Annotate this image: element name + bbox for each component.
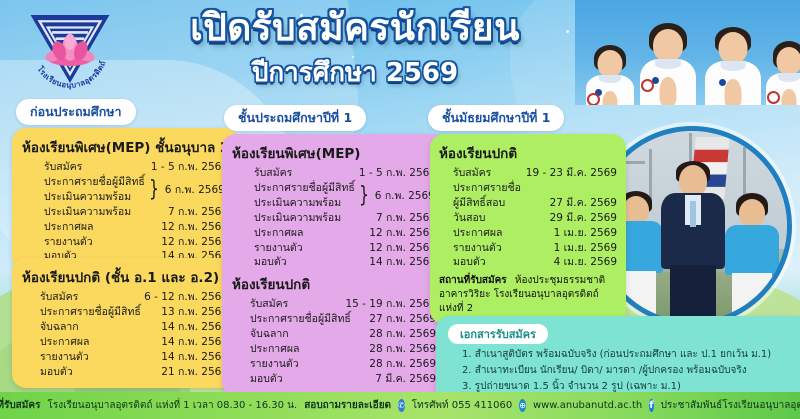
students-group-photo [575,0,800,105]
schedule-row: รับสมัคร 6 - 12 ก.พ. 2569 [22,290,228,305]
facebook-icon[interactable]: f [649,399,653,412]
curly-brace-icon: } [359,185,369,207]
row-label: ประกาศผล [250,342,299,357]
row-value: 21 ก.พ. 2569 [161,365,228,380]
row-value: 19 - 23 มี.ค. 2569 [526,166,617,181]
row-value: 27 มี.ค. 2569 [550,196,617,211]
schedule-row: รับสมัคร 1 - 5 ก.พ. 2569 [232,166,436,181]
footer-contact-label: สอบถามรายละเอียด [304,398,391,413]
student-photo-figure [763,41,800,105]
note-line-two: อาคารวิริยะ โรงเรียนอนุบาลอุตรดิตถ์ แห่ง… [439,288,617,316]
schedule-row: รายงานตัว 28 ก.พ. 2569 [232,357,436,372]
schedule-row: วันสอบ 29 มี.ค. 2569 [439,211,617,226]
row-label: รายงานตัว [453,241,502,256]
student-photo-figure [637,23,699,105]
application-venue-note: สถานที่รับสมัคร ห้องประชุมธรรมชาติ อาคาร… [439,274,617,316]
note-label: สถานที่รับสมัคร [439,275,507,286]
card-primary: ห้องเรียนพิเศษ(MEP) รับสมัคร 1 - 5 ก.พ. … [222,134,446,396]
schedule-row: รับสมัคร 19 - 23 มี.ค. 2569 [439,166,617,181]
row-label: มอบตัว [254,255,287,270]
schedule-row: ประกาศรายชื่อผู้มีสิทธิ์ 13 ก.พ. 2569 [22,305,228,320]
row-label: ประกาศผล [254,226,303,241]
schedule-row: รายงานตัว 14 ก.พ. 2569 [22,350,228,365]
row-label: ประกาศผล [40,335,89,350]
row-label: รายงานตัว [254,241,303,256]
documents-title: เอกสารรับสมัคร [448,324,548,344]
schedule-row: ประกาศผล 12 ก.พ. 2569 [22,220,228,235]
section-label-secondary: ชั้นมัธยมศึกษาปีที่ 1 [428,105,564,131]
row-label: ประเมินความพร้อม [44,190,145,205]
row-label: มอบตัว [453,255,486,270]
row-label: วันสอบ [453,211,485,226]
row-value: 7 ก.พ. 2569 [168,205,228,220]
schedule-row: จับฉลาก 14 ก.พ. 2569 [22,320,228,335]
row-value: 1 - 5 ก.พ. 2569 [359,166,436,181]
row-label: ผู้มีสิทธิ์สอบ [453,196,505,211]
schedule-row: รายงานตัว 12 ก.พ. 2569 [22,235,228,250]
row-value: 1 เม.ย. 2569 [554,241,617,256]
row-value: 12 ก.พ. 2569 [369,241,436,256]
row-value: 6 ก.พ. 2569 [165,181,225,198]
schedule-row: ประกาศผล 14 ก.พ. 2569 [22,335,228,350]
poster-root: โรงเรียนอนุบาลอุตรดิตถ์ เปิดรับสมัครนักเ… [0,0,800,419]
schedule-row: ประกาศรายชื่อ [439,181,617,196]
row-value: 14 ก.พ. 2569 [369,255,436,270]
card-title: ห้องเรียนพิเศษ(MEP) ชั้นอนุบาล 2 [22,136,228,158]
row-value: 6 - 12 ก.พ. 2569 [144,290,228,305]
row-value: 1 - 5 ก.พ. 2569 [151,160,228,175]
schedule-row: ประเมินความพร้อม 7 ก.พ. 2569 [232,211,436,226]
row-value: 29 มี.ค. 2569 [550,211,617,226]
row-value: 14 ก.พ. 2569 [161,335,228,350]
card-kindergarten-mep: ห้องเรียนพิเศษ(MEP) ชั้นอนุบาล 2 รับสมัค… [12,128,238,272]
schedule-row: รายงานตัว 1 เม.ย. 2569 [439,241,617,256]
card-kindergarten-normal: ห้องเรียนปกติ (ชั้น อ.1 และ อ.2) รับสมัค… [12,258,238,388]
row-label: มอบตัว [40,365,73,380]
note-value: ห้องประชุมธรรมชาติ [515,275,605,286]
schedule-row: มอบตัว 4 เม.ย. 2569 [439,255,617,270]
schedule-row: มอบตัว 21 ก.พ. 2569 [22,365,228,380]
row-value: 4 เม.ย. 2569 [554,255,617,270]
schedule-row: ประกาศรายชื่อผู้มีสิทธิ์ 27 ก.พ. 2569 [232,312,436,327]
row-label: จับฉลาก [40,320,79,335]
footer-bar: สถานที่รับสมัคร โรงเรียนอนุบาลอุตรดิตถ์ … [0,392,800,419]
row-value: 7 มี.ค. 2569 [375,372,436,387]
card-title: ห้องเรียนพิเศษ(MEP) [232,142,436,164]
schedule-row: มอบตัว 14 ก.พ. 2569 [232,255,436,270]
schedule-row-brace: ประกาศรายชื่อผู้มีสิทธิ์ ประเมินความพร้อ… [232,181,436,211]
footer-phone: โทรศัพท์ 055 411060 [412,398,512,413]
schedule-rows: รับสมัคร 19 - 23 มี.ค. 2569 ประกาศรายชื่… [439,166,617,270]
row-value: 13 ก.พ. 2569 [161,305,228,320]
schedule-rows: รับสมัคร 1 - 5 ก.พ. 2569 ประกาศรายชื่อผู… [22,160,228,264]
footer-place-label: สถานที่รับสมัคร [0,398,40,413]
schedule-rows-normal: รับสมัคร 15 - 19 ก.พ. 2569 ประกาศรายชื่อ… [232,297,436,386]
row-label: รายงานตัว [250,357,299,372]
schedule-row-brace: ประกาศรายชื่อผู้มีสิทธิ์ ประเมินความพร้อ… [22,175,228,205]
row-label: จับฉลาก [250,327,289,342]
schedule-row: ประกาศผล 1 เม.ย. 2569 [439,226,617,241]
student-photo-figure [721,193,783,321]
row-label: ประกาศรายชื่อผู้มีสิทธิ์ [40,305,141,320]
row-label: รับสมัคร [40,290,78,305]
row-label: ประเมินความพร้อม [44,205,131,220]
student-photo-figure [583,45,637,105]
schedule-row: รายงานตัว 12 ก.พ. 2569 [232,241,436,256]
row-label: รับสมัคร [44,160,82,175]
row-value: 28 ก.พ. 2569 [369,327,436,342]
schedule-row: ผู้มีสิทธิ์สอบ 27 มี.ค. 2569 [439,196,617,211]
schedule-row: ประเมินความพร้อม 7 ก.พ. 2569 [22,205,228,220]
row-label: ประกาศรายชื่อผู้มีสิทธิ์ [250,312,351,327]
row-value: 7 ก.พ. 2569 [376,211,436,226]
page-subtitle: ปีการศึกษา 2569 [130,52,580,93]
row-label: ประกาศรายชื่อผู้มีสิทธิ์ [254,181,355,196]
card-secondary: ห้องเรียนปกติ รับสมัคร 19 - 23 มี.ค. 256… [430,134,626,324]
schedule-row: ประกาศผล 28 ก.พ. 2569 [232,342,436,357]
row-value: 12 ก.พ. 2569 [369,226,436,241]
row-label: รับสมัคร [453,166,491,181]
row-label: รายงานตัว [44,235,93,250]
section-label-preschool: ก่อนประถมศึกษา [16,99,136,125]
row-label: มอบตัว [250,372,283,387]
schedule-row: มอบตัว 7 มี.ค. 2569 [232,372,436,387]
row-label: ประกาศผล [453,226,502,241]
page-title: เปิดรับสมัครนักเรียน [130,8,580,48]
schedule-rows-mep: รับสมัคร 1 - 5 ก.พ. 2569 ประกาศรายชื่อผู… [232,166,436,270]
row-label: ประกาศรายชื่อ [453,181,521,196]
row-value: 6 ก.พ. 2569 [375,187,435,204]
row-value: 14 ก.พ. 2569 [161,320,228,335]
row-value: 28 ก.พ. 2569 [369,357,436,372]
row-label: รายงานตัว [40,350,89,365]
globe-icon: ⊕ [519,399,526,412]
card-title: ห้องเรียนปกติ [439,142,617,164]
schedule-row: จับฉลาก 28 ก.พ. 2569 [232,327,436,342]
row-value: 14 ก.พ. 2569 [161,350,228,365]
row-label: ประเมินความพร้อม [254,211,341,226]
row-value: 12 ก.พ. 2569 [161,220,228,235]
footer-facebook[interactable]: ประชาสัมพันธ์โรงเรียนอนุบาลอุตรดิตถ์ [661,398,800,413]
student-photo-figure [703,27,763,105]
footer-website[interactable]: www.anubanutd.ac.th [533,400,642,411]
row-label: ประกาศผล [44,220,93,235]
list-item: 1. สำเนาสูติบัตร พร้อมฉบับจริง (ก่อนประถ… [448,347,800,363]
card-title: ห้องเรียนปกติ (ชั้น อ.1 และ อ.2) [22,266,228,288]
phone-icon: ✆ [398,399,405,412]
row-label: ประเมินความพร้อม [254,196,355,211]
list-item: 2. สำเนาทะเบียน นักเรียน/ บิดา/ มารดา /ผ… [448,363,800,379]
row-label: รับสมัคร [250,297,288,312]
row-value: 1 เม.ย. 2569 [554,226,617,241]
row-label: รับสมัคร [254,166,292,181]
schedule-row: ประกาศผล 12 ก.พ. 2569 [232,226,436,241]
footer-place-value: โรงเรียนอนุบาลอุตรดิตถ์ แห่งที่ 1 เวลา 0… [47,398,297,413]
schedule-rows: รับสมัคร 6 - 12 ก.พ. 2569 ประกาศรายชื่อผ… [22,290,228,379]
card-subtitle: ห้องเรียนปกติ [232,273,436,295]
row-value: 27 ก.พ. 2569 [369,312,436,327]
poster-title-block: เปิดรับสมัครนักเรียน ปีการศึกษา 2569 [130,8,580,93]
school-logo-icon: โรงเรียนอนุบาลอุตรดิตถ์ [24,6,116,92]
row-value: 28 ก.พ. 2569 [369,342,436,357]
schedule-row: รับสมัคร 1 - 5 ก.พ. 2569 [22,160,228,175]
row-value: 12 ก.พ. 2569 [161,235,228,250]
section-label-primary: ชั้นประถมศึกษาปีที่ 1 [224,105,366,131]
curly-brace-icon: } [149,179,159,201]
row-value: 15 - 19 ก.พ. 2569 [345,297,436,312]
schedule-row: รับสมัคร 15 - 19 ก.พ. 2569 [232,297,436,312]
row-label: ประกาศรายชื่อผู้มีสิทธิ์ [44,175,145,190]
